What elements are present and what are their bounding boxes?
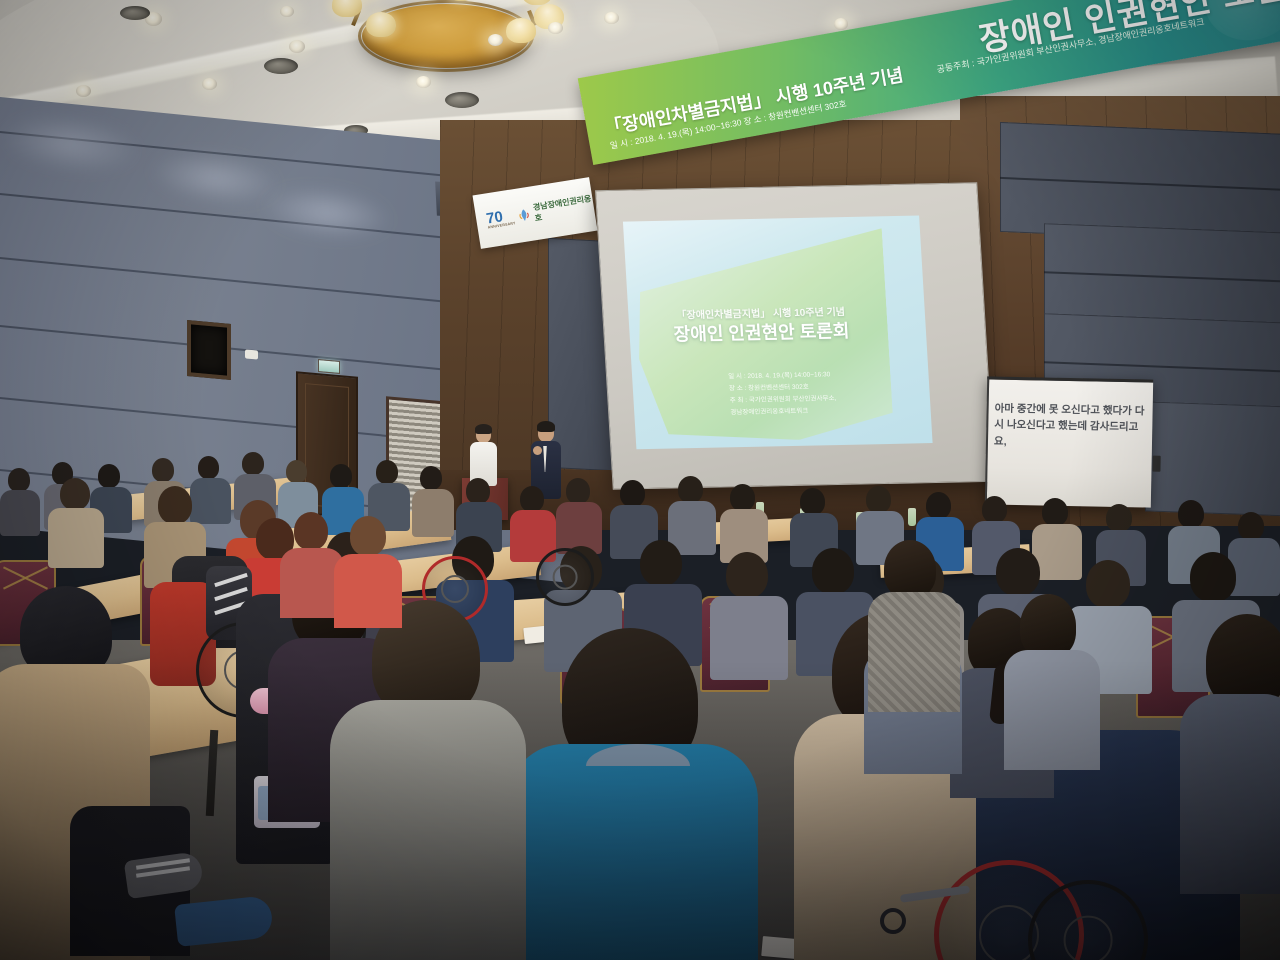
audience-head — [1238, 512, 1264, 540]
audience-head — [566, 478, 590, 504]
audience-head — [884, 540, 936, 598]
audience-body — [1228, 538, 1280, 596]
audience-head — [286, 460, 307, 483]
audience-body — [330, 700, 526, 960]
audience-head — [242, 452, 264, 475]
conference-hall-photo: 장애인 인권현안 토론회 「장애인차별금지법」 시행 10주년 기념 공동주최 … — [0, 0, 1280, 960]
audience-head — [678, 476, 703, 503]
audience-body — [1004, 650, 1100, 770]
audience-body — [48, 508, 104, 568]
audience-head — [640, 540, 682, 586]
audience-head — [98, 464, 120, 488]
audience-head — [330, 464, 352, 488]
audience-body — [190, 478, 231, 524]
audience-head — [1106, 504, 1132, 532]
audience-head — [926, 492, 951, 519]
audience-head — [996, 548, 1040, 596]
audience-head — [800, 488, 825, 515]
audience-head — [730, 484, 755, 511]
wheelchair-wheel — [536, 548, 594, 606]
audience-head — [520, 486, 544, 512]
audience-head — [8, 468, 30, 492]
audience-head — [198, 456, 219, 479]
audience-head — [1020, 594, 1076, 658]
audience-head — [1190, 552, 1236, 602]
audience-head — [350, 516, 386, 556]
audience-body — [710, 596, 788, 680]
audience-body — [1180, 694, 1280, 894]
audience-body — [412, 489, 454, 537]
audience-head — [294, 512, 328, 550]
audience-body — [508, 744, 758, 960]
audience-head — [726, 552, 768, 598]
audience-body — [868, 592, 960, 712]
audience-head — [420, 466, 442, 490]
audience-body — [0, 490, 40, 536]
audience-head — [620, 480, 645, 507]
wheelchair-caster — [880, 908, 906, 934]
audience-head — [1042, 498, 1068, 526]
audience-head — [376, 460, 398, 484]
audience-head — [982, 496, 1007, 523]
audience-head — [60, 478, 90, 510]
audience-head — [466, 478, 490, 504]
audience — [0, 0, 1280, 960]
audience-head — [866, 486, 891, 513]
audience-head — [812, 548, 854, 594]
audience-body — [334, 554, 402, 628]
audience-head — [158, 486, 192, 524]
audience-head — [1178, 500, 1204, 528]
audience-head — [1086, 560, 1130, 608]
audience-head — [152, 458, 174, 482]
